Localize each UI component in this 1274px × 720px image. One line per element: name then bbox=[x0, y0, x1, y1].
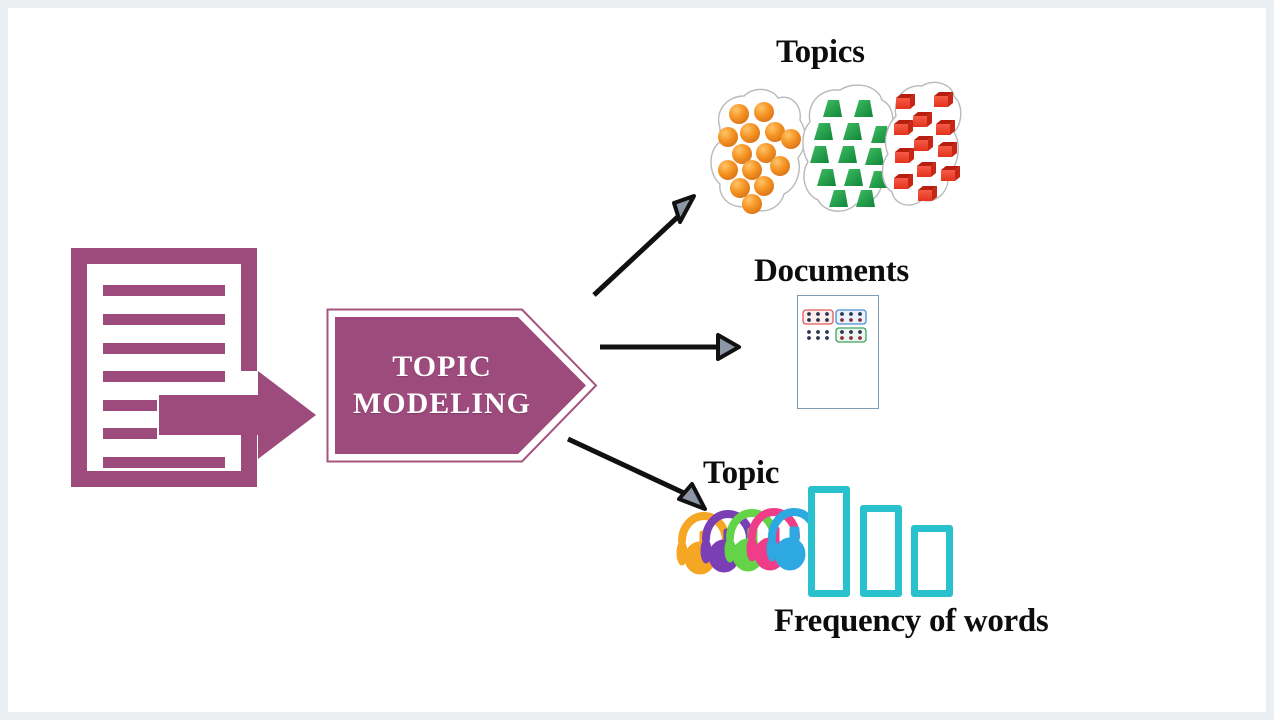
topic-modeling-step[interactable]: TOPIC MODELING bbox=[326, 308, 598, 463]
topic-words-title: Topic bbox=[703, 455, 779, 492]
cluster-green-cones bbox=[803, 85, 893, 211]
topic-modeling-chevron-svg bbox=[326, 308, 598, 463]
document-stack-svg bbox=[63, 240, 328, 495]
frequency-of-words-caption: Frequency of words bbox=[774, 603, 1048, 640]
document-outgoing-arrow bbox=[159, 371, 316, 459]
document-page bbox=[797, 295, 879, 409]
arrow-to-documents bbox=[600, 335, 739, 359]
topic-clusters-illustration bbox=[698, 76, 963, 221]
slide-canvas: TOPIC MODELING Topics bbox=[8, 8, 1266, 712]
arrow-to-topics bbox=[594, 196, 694, 295]
frequency-bar-2 bbox=[860, 505, 902, 597]
frequency-bar-1 bbox=[808, 486, 850, 597]
cluster-orange-spheres bbox=[711, 89, 805, 214]
documents-title: Documents bbox=[754, 253, 909, 290]
document-stack-icon bbox=[63, 240, 328, 495]
document-tokens-svg bbox=[798, 296, 878, 408]
headphones-row-image bbox=[672, 495, 812, 580]
frequency-bar-3 bbox=[911, 525, 953, 597]
cluster-red-cubes bbox=[882, 82, 960, 205]
topics-title: Topics bbox=[776, 34, 865, 71]
